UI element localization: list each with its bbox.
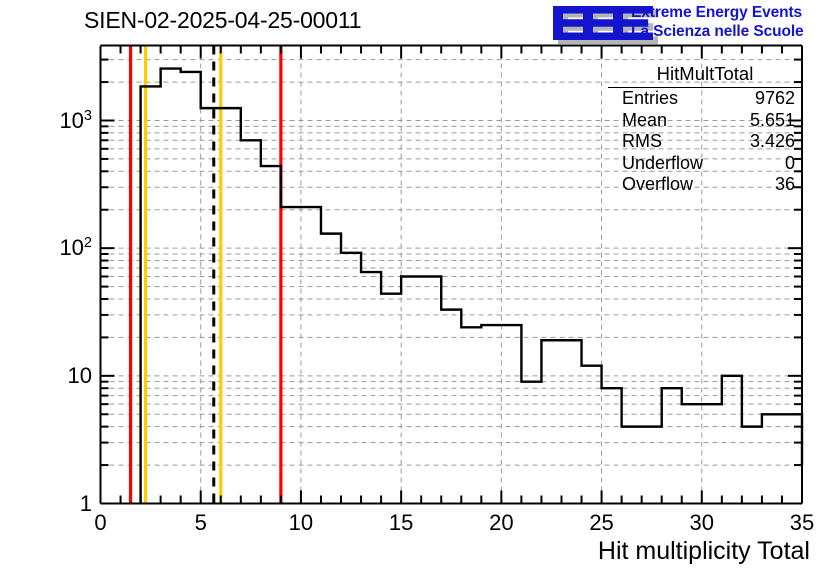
stats-row-value: 5.651 (750, 110, 795, 132)
stats-row: Mean5.651 (608, 110, 802, 132)
stats-row-value: 36 (775, 174, 795, 196)
y-tick-label: 103 (20, 107, 92, 133)
eee-tagline-2: La Scienza nelle Scuole (631, 22, 804, 41)
eee-tagline-1: Extreme Energy Events (631, 3, 804, 22)
stats-row-label: Overflow (622, 174, 693, 196)
x-axis-title: Hit multiplicity Total (598, 537, 810, 566)
cut-lines-layer (131, 46, 281, 504)
y-tick-label: 1 (20, 491, 92, 517)
x-tick-label: 35 (790, 510, 814, 536)
page-title: SIEN-02-2025-04-25-00011 (84, 7, 361, 34)
stats-row: RMS3.426 (608, 131, 802, 153)
eee-logo-text: Extreme Energy Events La Scienza nelle S… (631, 3, 804, 41)
stats-row-label: Underflow (622, 153, 703, 175)
x-tick-label: 20 (489, 510, 513, 536)
y-tick-label: 102 (20, 235, 92, 261)
x-tick-label: 5 (195, 510, 207, 536)
stats-row-label: Entries (622, 88, 678, 110)
stats-row: Underflow0 (608, 153, 802, 175)
x-tick-label: 25 (589, 510, 613, 536)
stats-row-label: RMS (622, 131, 662, 153)
stats-row-label: Mean (622, 110, 667, 132)
stats-row-value: 0 (785, 153, 795, 175)
y-tick-label: 10 (20, 363, 92, 389)
stats-row: Entries9762 (608, 88, 802, 110)
stats-row-value: 9762 (755, 88, 795, 110)
x-tick-label: 0 (94, 510, 106, 536)
stats-box: HitMultTotal Entries9762Mean5.651RMS3.42… (608, 62, 802, 196)
stats-row-value: 3.426 (750, 131, 795, 153)
x-tick-label: 15 (389, 510, 413, 536)
x-tick-label: 10 (289, 510, 313, 536)
stats-title: HitMultTotal (608, 62, 802, 88)
x-tick-label: 30 (690, 510, 714, 536)
stats-row: Overflow36 (608, 174, 802, 196)
